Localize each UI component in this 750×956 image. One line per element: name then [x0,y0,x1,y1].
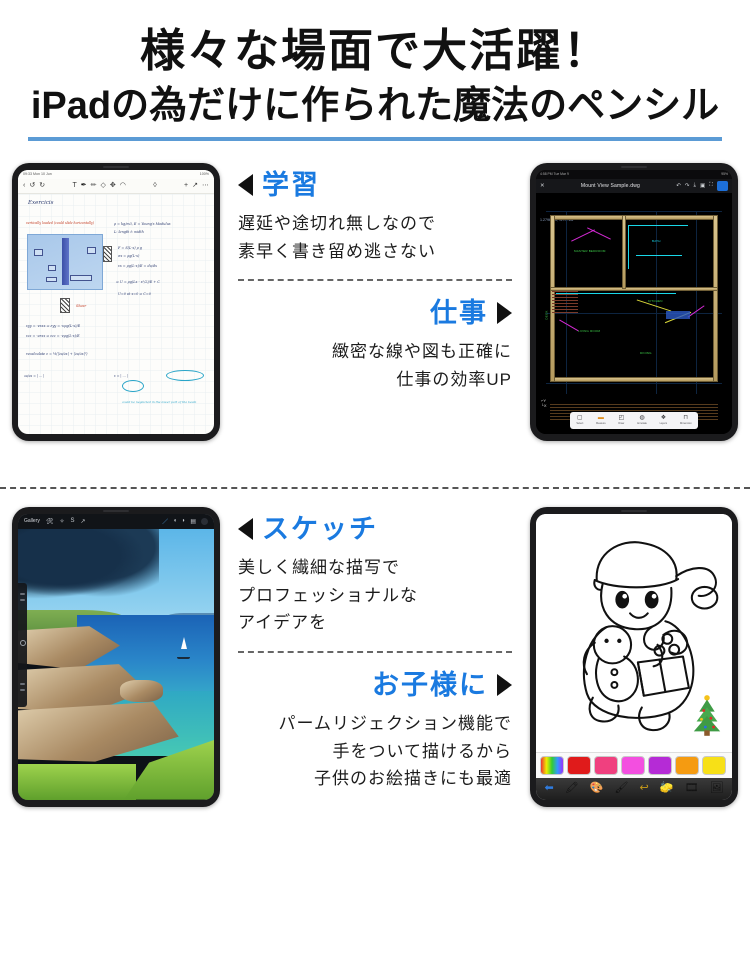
swatch-orange[interactable] [675,756,699,775]
diagram-node-a [34,249,43,256]
status-battery: 100% [200,172,209,176]
christmas-tree-icon [690,694,724,738]
swatch-magenta[interactable] [621,756,645,775]
desc-line: パームリジェクション機能で [238,710,512,738]
room-label-kitchen: KITCHEN [648,299,663,303]
notes-actions-group[interactable]: + ↗ ⋯ [184,182,209,189]
tablet-device-procreate: Gallery 🛠 ✧ S ↗ ／ ◖ ◗ ▤ [12,507,220,807]
feature-block-study: 学習 遅延や途切れ無しなので 素早く書き留め逃さない [238,163,512,265]
procreate-app: Gallery 🛠 ✧ S ↗ ／ ◖ ◗ ▤ [18,514,214,800]
desc-line: プロフェッショナルな [238,582,512,610]
notes-canvas[interactable]: Exercicis vertically loaded (could slide… [18,194,214,434]
cad-canvas[interactable]: 1.2796×10, -37.0.1/8" [536,193,732,434]
note-matrix-right: ε = | … | [114,374,128,378]
feature-block-kids: お子様に パームリジェクション機能で 手をついて描けるから 子供のお絵描きにも最… [238,663,512,793]
note-formula-7: U=0 at x=0 ⇒ C=0 [118,292,151,296]
note-formula-3: F = S(L-x) ρ g [118,246,142,250]
cad-status-bar: 4:58 PM Tue Mar 9 95% [536,170,732,179]
highlight-ellipse-1 [122,380,144,392]
cad-tool-dimension[interactable]: ⊓ Dimension [680,415,692,425]
notes-status-bar: 09:33 Mon 10 Jun 100% [18,170,214,179]
desc-line: 素早く書き留め逃さない [238,238,512,266]
note-formula-1: ρ = kg/m3, E = Young's Modulus [114,222,171,226]
room-label-master: MASTER BEDROOM [574,249,606,253]
dimension-icon: ⊓ [683,415,688,421]
swatch-yellow[interactable] [702,756,726,775]
status-battery: 95% [721,172,728,176]
diagram-label-box [70,275,92,281]
feature-title-sketch: スケッチ [262,513,378,545]
front-camera-icon [103,166,129,168]
diagram-node-d [46,277,57,282]
back-chevron-icon[interactable]: ‹ [23,182,25,189]
tablet-screen-notes: 09:33 Mon 10 Jun 100% ‹ ↺ ↻ T ✒ [18,170,214,434]
selection-icon[interactable]: S [71,518,75,524]
status-time: 09:33 Mon 10 Jun [23,172,52,176]
page-header: 様々な場面で大活躍！ iPadの為だけに作られた魔法のペンシル [0,0,750,141]
text-column-bottom: スケッチ 美しく繊細な描写で プロフェッショナルな アイデアを お子様に パーム… [232,507,518,793]
tablet-cad-container: 4:58 PM Tue Mar 9 95% ✕ Mount View Sampl… [518,163,750,441]
room-label-living: LIVING ROOM [578,329,600,333]
desc-line: 美しく繊細な描写で [238,554,512,582]
note-formula-10: recalculate ε = ½(|∂u/∂x| + |∂u/∂x|ᵀ) [26,352,88,356]
desc-line: 遅延や途切れ無しなので [238,210,512,238]
beam-diagram [27,234,103,290]
note-formula-2: L: length t: width [114,230,144,234]
feature-desc-study: 遅延や途切れ無しなので 素早く書き留め逃さない [238,210,512,265]
pens-icon[interactable]: 🖍 [565,783,579,794]
cad-tool-layers[interactable]: ❖ Layers [660,415,668,425]
room-label-bath: BATH [652,239,661,243]
cad-axis-indicator: ⌐Y└X [541,398,547,408]
tool-label: Annotate [637,422,647,425]
tablet-screen-procreate: Gallery 🛠 ✧ S ↗ ／ ◖ ◗ ▤ [18,514,214,800]
cad-document-title: Mount View Sample.dwg [549,183,673,189]
tablet-device-coloring: ⬅ 🖍 🎨 🖌 ↩ 🧽 🎞 🖼 [530,507,738,807]
share-icon[interactable]: ↗ [192,182,198,189]
shape-tool-icon[interactable]: ◇ [100,182,105,189]
procreate-right-tools[interactable]: ／ ◖ ◗ ▤ [162,517,208,526]
wall-right [713,215,718,382]
section-divider [0,487,750,489]
tool-label: Draw [618,422,624,425]
palette-icon[interactable]: 🎨 [590,783,604,794]
redo-icon[interactable]: ↻ [39,182,45,189]
draw-icon: ◰ [618,415,624,421]
coloring-toolbar[interactable]: ⬅ 🖍 🎨 🖌 ↩ 🧽 🎞 🖼 [536,778,732,800]
feature-heading-kids: お子様に [238,669,512,701]
headline-primary: 様々な場面で大活躍！ [0,24,750,77]
wall-interior-v [622,215,626,289]
tablet-screen-coloring: ⬅ 🖍 🎨 🖌 ↩ 🧽 🎞 🖼 [536,514,732,800]
gallery-button[interactable]: Gallery [24,518,40,524]
tool-label: Measure [596,422,606,425]
feature-block-work: 仕事 緻密な線や図も正確に 仕事の効率UP [238,291,512,393]
swatch-purple[interactable] [648,756,672,775]
select-icon: ▢ [577,415,583,421]
procreate-toolbar[interactable]: Gallery 🛠 ✧ S ↗ ／ ◖ ◗ ▤ [18,514,214,529]
note-annotation-cyan: could be neglected in the lower part of … [122,400,196,404]
eraser-icon[interactable]: 🧽 [660,783,674,794]
diagram-node-b [87,247,96,254]
more-icon[interactable]: ⋯ [202,182,209,189]
actions-icon[interactable]: 🛠 [46,518,54,525]
highlight-ellipse-2 [166,370,204,381]
room-label-deck: DECK [545,310,549,319]
photo-icon[interactable]: 🖼 [709,783,723,794]
front-camera-icon [621,510,647,512]
tool-label: Layers [660,422,668,425]
layers-icon: ❖ [661,415,666,421]
note-formula-9: εzz = -νεxx ⇒ εzz = -νρg(L-x)/E [26,334,80,338]
add-page-icon[interactable]: + [184,182,188,189]
undo-icon[interactable]: ↩ [640,783,649,794]
feature-title-work: 仕事 [430,297,488,329]
foreground-grass-left [18,764,136,799]
adjustments-icon[interactable]: ✧ [59,518,64,525]
text-tool-icon[interactable]: T [72,182,76,189]
measure-icon: ▬ [598,415,604,421]
pencil-tool-icon[interactable]: ✏ [91,182,97,189]
brush-size-slider[interactable] [20,593,25,595]
procreate-sidebar[interactable] [18,583,27,708]
header-underline [28,137,722,141]
fullscreen-icon[interactable]: ⛶ [709,182,713,189]
tool-label: Dimension [680,422,692,425]
desc-line: 子供のお絵描きにも最適 [238,765,512,793]
tablet-procreate-container: Gallery 🛠 ✧ S ↗ ／ ◖ ◗ ▤ [0,507,232,807]
headline-secondary: iPadの為だけに作られた魔法のペンシル [0,83,750,131]
desc-line: 緻密な線や図も正確に [238,338,512,366]
note-annotation-red: vertically loaded (could slide horizonta… [26,221,94,225]
triangle-right-icon [497,302,512,324]
feature-desc-work: 緻密な線や図も正確に 仕事の効率UP [238,338,512,393]
beam-shape [62,238,69,286]
eraser-tool-icon[interactable]: ◊ [153,182,156,189]
layers-icon[interactable]: ▣ [700,183,705,189]
pen-tool-icon[interactable]: ✒ [81,182,87,189]
notes-app: 09:33 Mon 10 Jun 100% ‹ ↺ ↻ T ✒ [18,170,214,434]
film-icon[interactable]: 🎞 [684,783,698,794]
procreate-canvas[interactable] [18,529,214,800]
undo-icon[interactable]: ↺ [29,182,35,189]
notes-eraser-group[interactable]: ◊ [153,182,156,189]
color-palette[interactable] [536,752,732,778]
triangle-left-icon [238,174,253,196]
modify-button[interactable] [20,640,26,646]
back-arrow-icon[interactable]: ⬅ [545,783,554,794]
coloring-app: ⬅ 🖍 🎨 🖌 ↩ 🧽 🎞 🖼 [536,514,732,800]
tablet-notes-container: 09:33 Mon 10 Jun 100% ‹ ↺ ↻ T ✒ [0,163,232,441]
front-camera-icon [103,510,129,512]
cad-bottom-toolbar[interactable]: ▢ Select ▬ Measure ◰ Draw [570,412,698,429]
markers-cup-icon[interactable]: 🖌 [615,783,629,794]
feature-desc-sketch: 美しく繊細な描写で プロフェッショナルな アイデアを [238,554,512,637]
text-column-top: 学習 遅延や途切れ無しなので 素早く書き留め逃さない 仕事 緻密な線や図も正確に… [232,163,518,394]
note-title: Exercicis [28,200,54,206]
cad-tool-draw[interactable]: ◰ Draw [618,415,624,425]
undo-icon[interactable]: ↶ [676,183,681,189]
swatch-rainbow[interactable] [540,756,564,775]
notes-toolbar[interactable]: ‹ ↺ ↻ T ✒ ✏ ◇ ✥ ◠ [18,179,214,194]
transform-icon[interactable]: ↗ [81,518,86,525]
opacity-slider[interactable] [20,683,25,685]
coloring-canvas[interactable] [536,514,732,752]
feature-heading-sketch: スケッチ [238,513,512,545]
swatch-pink[interactable] [594,756,618,775]
section-top: 09:33 Mon 10 Jun 100% ‹ ↺ ↻ T ✒ [0,163,750,473]
note-formula-4: σx = ρg(L-x) [118,254,139,258]
tree-canopy [18,523,159,604]
lasso-tool-icon[interactable]: ◠ [120,182,126,189]
tablet-coloring-container: ⬅ 🖍 🎨 🖌 ↩ 🧽 🎞 🖼 [518,507,750,807]
annotate-icon: ◍ [639,415,644,421]
note-matrix-left: ∂u/∂x = | … | [24,374,44,378]
note-formula-6: ⇒ U = ρg(Lx - x²/2)/E + C [116,280,160,284]
diagram-node-c [48,265,56,271]
rock-islet [120,680,163,702]
color-icon[interactable] [201,518,208,525]
center-divider-top [238,279,512,281]
brush-size-track[interactable] [20,599,25,601]
notes-nav-group[interactable]: ‹ ↺ ↻ [23,182,45,189]
move-tool-icon[interactable]: ✥ [110,182,116,189]
triangle-right-icon [497,674,512,696]
tablet-device-cad: 4:58 PM Tue Mar 9 95% ✕ Mount View Sampl… [530,163,738,441]
note-shear-label: Shear [76,304,86,308]
layers-icon[interactable]: ▤ [190,518,196,525]
center-divider-bottom [238,651,512,653]
desc-line: 手をついて描けるから [238,738,512,766]
cad-tool-annotate[interactable]: ◍ Annotate [637,415,647,425]
triangle-left-icon [238,518,253,540]
room-label-dining: DINING [640,351,652,355]
opacity-track[interactable] [20,689,25,691]
wall-top [550,215,718,220]
desc-line: アイデアを [238,609,512,637]
close-icon[interactable]: ✕ [540,183,545,189]
cad-tool-select[interactable]: ▢ Select [576,415,583,425]
erase-icon[interactable]: ◗ [182,518,186,524]
notes-tools-group[interactable]: T ✒ ✏ ◇ ✥ ◠ [72,182,125,189]
wall-bottom [550,377,718,382]
tool-label: Select [576,422,583,425]
autocad-app: 4:58 PM Tue Mar 9 95% ✕ Mount View Sampl… [536,170,732,434]
note-formula-8: εyy = -νεxx ⇒ εyy = -νρg(L-x)/E [26,324,80,328]
cad-toolbar-top[interactable]: ✕ Mount View Sample.dwg ↶ ↷ ⤓ ▣ ⛶ [536,179,732,193]
menu-icon[interactable] [717,181,728,191]
feature-heading-study: 学習 [238,169,512,201]
redo-icon[interactable]: ↷ [685,183,690,189]
feature-block-sketch: スケッチ 美しく繊細な描写で プロフェッショナルな アイデアを [238,507,512,637]
smudge-icon[interactable]: ◖ [173,518,177,524]
feature-heading-work: 仕事 [238,297,512,329]
sailboat-sail [181,637,187,649]
hatch-support-1 [103,246,112,262]
feature-title-study: 学習 [262,169,320,201]
desc-line: 仕事の効率UP [238,366,512,394]
cad-tool-measure[interactable]: ▬ Measure [596,415,606,425]
tablet-device-notes: 09:33 Mon 10 Jun 100% ‹ ↺ ↻ T ✒ [12,163,220,441]
section-bottom: Gallery 🛠 ✧ S ↗ ／ ◖ ◗ ▤ [0,507,750,837]
hatch-support-2 [60,298,70,313]
measure-icon[interactable]: ⤓ [694,182,696,189]
note-formula-5: εx = ρg(L-x)/E = du/dx [118,264,157,268]
status-time: 4:58 PM Tue Mar 9 [540,172,569,176]
tablet-screen-cad: 4:58 PM Tue Mar 9 95% ✕ Mount View Sampl… [536,170,732,434]
feature-desc-kids: パームリジェクション機能で 手をついて描けるから 子供のお絵描きにも最適 [238,710,512,793]
paint-icon[interactable]: ／ [162,517,168,526]
front-camera-icon [621,166,647,168]
feature-title-kids: お子様に [372,669,488,701]
swatch-red[interactable] [567,756,591,775]
